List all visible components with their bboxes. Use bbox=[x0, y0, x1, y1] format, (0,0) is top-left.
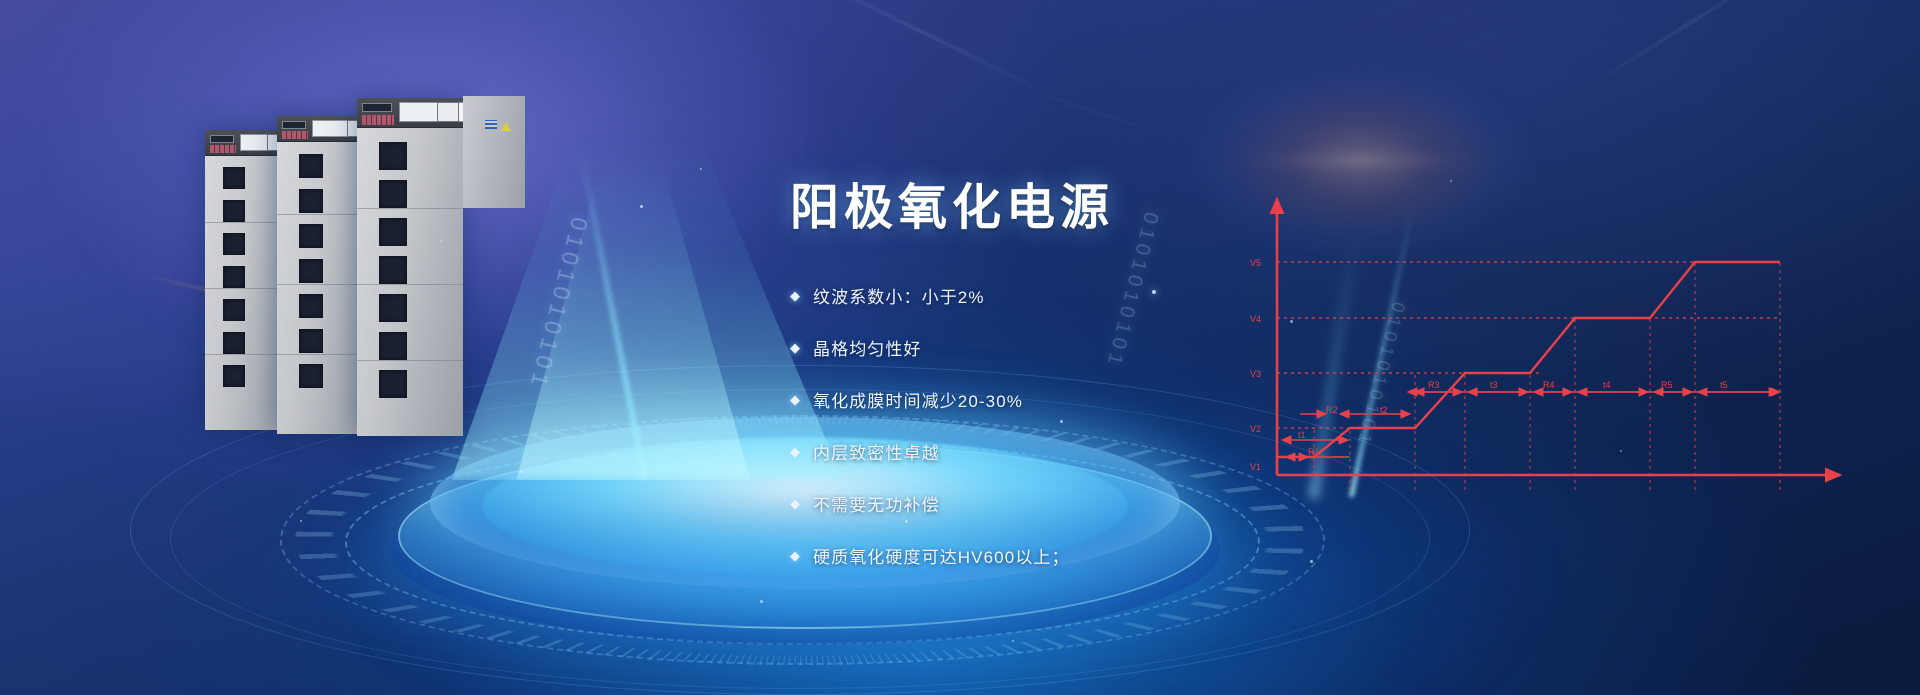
panel-keypad-icon bbox=[362, 115, 394, 125]
voltage-ramp-line bbox=[1277, 262, 1780, 475]
segment-label-t4: t4 bbox=[1603, 380, 1611, 390]
list-item: ◆ 晶格均匀性好 bbox=[790, 335, 1310, 360]
segment-label-r4: R4 bbox=[1543, 380, 1555, 390]
cabinet-vent bbox=[223, 167, 245, 189]
cabinet-seam bbox=[357, 208, 463, 209]
cabinet-seam bbox=[357, 284, 463, 285]
segment-label-t1: t1 bbox=[1298, 430, 1306, 440]
cabinet-vent bbox=[379, 180, 407, 208]
y-tick-label-v2: V2 bbox=[1250, 424, 1261, 434]
diamond-bullet-icon: ◆ bbox=[790, 289, 800, 302]
diamond-bullet-icon: ◆ bbox=[790, 497, 800, 510]
y-tick-label-v4: V4 bbox=[1250, 314, 1261, 324]
cabinet-vent bbox=[223, 200, 245, 222]
cabinet-vent bbox=[223, 266, 245, 288]
power-supply-cabinets bbox=[205, 98, 605, 448]
nameplate-icon bbox=[485, 120, 497, 129]
page-title: 阳极氧化电源 bbox=[790, 168, 1310, 239]
cabinet-vent bbox=[379, 142, 407, 170]
panel-lcd-icon bbox=[210, 135, 234, 143]
cabinet-vent bbox=[223, 233, 245, 255]
diamond-bullet-icon: ◆ bbox=[790, 341, 800, 354]
voltage-ramp-chart: V5 V4 V3 V2 V1 R1 t1 R2 t2 R3 t3 R4 t4 R… bbox=[1240, 185, 1860, 505]
panel-lcd-icon bbox=[282, 121, 306, 129]
cabinet-roof bbox=[463, 96, 525, 208]
segment-label-r1: R1 bbox=[1308, 447, 1320, 457]
cabinet-vent bbox=[299, 154, 323, 178]
cabinet-control-panel bbox=[357, 98, 463, 128]
y-tick-label-v5: V5 bbox=[1250, 258, 1261, 268]
feature-list: ◆ 纹波系数小：小于2% ◆ 晶格均匀性好 ◆ 氧化成膜时间减少20-30% ◆… bbox=[790, 283, 1310, 568]
product-banner: 0101010101 0101010101 0101010101 阳极氧化电源 … bbox=[0, 0, 1920, 695]
panel-lcd-icon bbox=[362, 103, 392, 112]
diamond-bullet-icon: ◆ bbox=[790, 445, 800, 458]
particle bbox=[700, 168, 702, 170]
list-item: ◆ 氧化成膜时间减少20-30% bbox=[790, 387, 1310, 412]
diamond-bullet-icon: ◆ bbox=[790, 393, 800, 406]
list-item: ◆ 不需要无功补偿 bbox=[790, 491, 1310, 516]
cabinet-vent bbox=[299, 364, 323, 388]
cabinet-vent bbox=[299, 294, 323, 318]
segment-label-t2: t2 bbox=[1380, 405, 1388, 415]
cabinet-vent bbox=[379, 332, 407, 360]
segment-label-r5: R5 bbox=[1661, 380, 1673, 390]
list-item-label: 不需要无功补偿 bbox=[813, 491, 940, 516]
particle bbox=[520, 470, 523, 473]
chart-svg: V5 V4 V3 V2 V1 R1 t1 R2 t2 R3 t3 R4 t4 R… bbox=[1240, 185, 1860, 505]
cabinet-vent bbox=[223, 332, 245, 354]
y-tick-label-v3: V3 bbox=[1250, 369, 1261, 379]
cabinet-vent bbox=[223, 365, 245, 387]
list-item-label: 硬质氧化硬度可达HV600以上； bbox=[813, 543, 1070, 568]
segment-label-t5: t5 bbox=[1720, 380, 1728, 390]
hazard-icon bbox=[501, 122, 511, 131]
cabinet-vent bbox=[299, 224, 323, 248]
cabinet-vent bbox=[299, 329, 323, 353]
list-item: ◆ 纹波系数小：小于2% bbox=[790, 283, 1310, 308]
y-tick-label-v1: V1 bbox=[1250, 462, 1261, 472]
list-item-label: 氧化成膜时间减少20-30% bbox=[813, 387, 1023, 412]
list-item: ◆ 硬质氧化硬度可达HV600以上； bbox=[790, 543, 1310, 568]
particle bbox=[1450, 180, 1452, 182]
particle bbox=[640, 205, 643, 208]
segment-label-t3: t3 bbox=[1490, 380, 1498, 390]
cabinet-vent bbox=[379, 294, 407, 322]
banner-text-block: 阳极氧化电源 ◆ 纹波系数小：小于2% ◆ 晶格均匀性好 ◆ 氧化成膜时间减少2… bbox=[790, 168, 1310, 595]
cabinet-vent bbox=[223, 299, 245, 321]
list-item-label: 晶格均匀性好 bbox=[813, 335, 922, 360]
cabinet-seam bbox=[357, 360, 463, 361]
panel-keypad-icon bbox=[210, 145, 236, 153]
particle bbox=[300, 520, 302, 522]
list-item: ◆ 内层致密性卓越 bbox=[790, 439, 1310, 464]
cabinet-vent bbox=[379, 370, 407, 398]
diamond-bullet-icon: ◆ bbox=[790, 549, 800, 562]
cabinet-front bbox=[357, 98, 463, 436]
cabinet-vent bbox=[299, 189, 323, 213]
segment-label-r3: R3 bbox=[1428, 380, 1440, 390]
light-streak bbox=[776, 0, 1064, 102]
panel-keypad-icon bbox=[282, 131, 308, 139]
cabinet-vent bbox=[299, 259, 323, 283]
cabinet-vent bbox=[379, 218, 407, 246]
light-streak bbox=[1579, 0, 1801, 93]
list-item-label: 内层致密性卓越 bbox=[813, 439, 940, 464]
panel-meter-icon bbox=[437, 102, 459, 122]
cabinet-vent bbox=[379, 256, 407, 284]
segment-label-r2: R2 bbox=[1326, 405, 1338, 415]
list-item-label: 纹波系数小：小于2% bbox=[813, 283, 985, 308]
light-streak bbox=[1004, 82, 1175, 139]
